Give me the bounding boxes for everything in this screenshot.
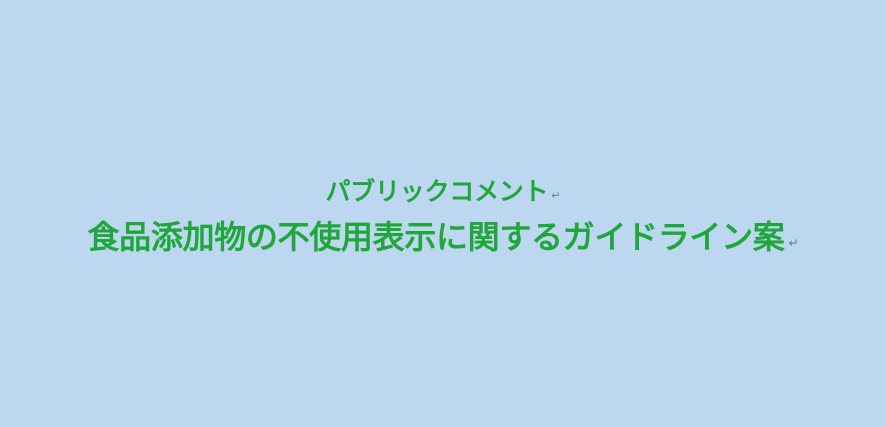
- heading-line-2-text: 食品添加物の不使用表示に関するガイドライン案: [87, 219, 784, 255]
- document-canvas: パブリックコメント↵ 食品添加物の不使用表示に関するガイドライン案↵: [0, 0, 886, 427]
- paragraph-mark-icon-1: ↵: [551, 190, 560, 203]
- paragraph-mark-icon-2: ↵: [788, 236, 798, 250]
- heading-text-block: パブリックコメント↵ 食品添加物の不使用表示に関するガイドライン案↵: [0, 178, 886, 256]
- heading-line-2[interactable]: 食品添加物の不使用表示に関するガイドライン案↵: [0, 219, 886, 257]
- heading-line-1-text: パブリックコメント: [326, 178, 549, 206]
- heading-line-1[interactable]: パブリックコメント↵: [0, 178, 886, 208]
